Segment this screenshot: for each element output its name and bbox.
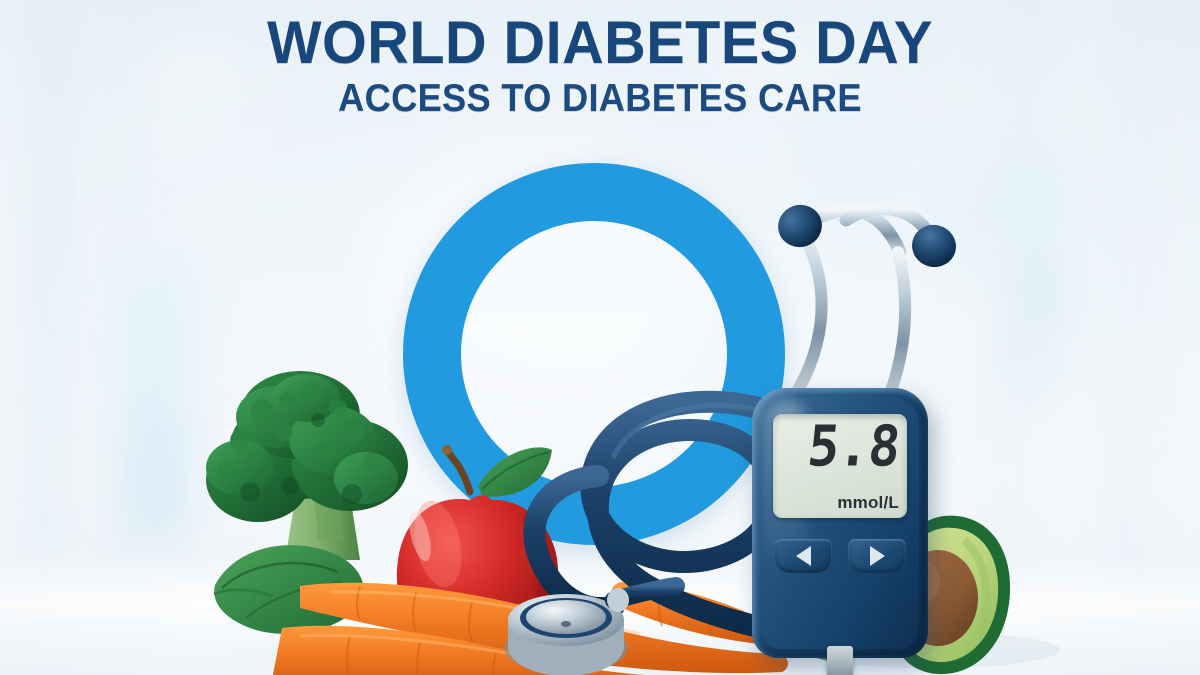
glucose-reading-unit: mmol/L	[837, 493, 899, 513]
page-title: WORLD DIABETES DAY	[24, 12, 1176, 73]
glucose-meter-display: 5.8 mmol/L	[773, 414, 907, 518]
glucose-reading-value: 5.8	[773, 419, 902, 475]
chevron-right-icon	[870, 546, 885, 566]
broccoli-illustration	[206, 371, 408, 560]
glucose-meter-body: 5.8 mmol/L	[752, 388, 928, 658]
stethoscope-earpiece-right	[908, 220, 961, 271]
stethoscope-earpiece-left	[773, 199, 828, 253]
glucose-meter[interactable]: 5.8 mmol/L	[752, 388, 928, 658]
glucose-meter-button-row	[774, 536, 906, 576]
page-subtitle: ACCESS TO DIABETES CARE	[42, 79, 1158, 120]
test-strip[interactable]	[827, 646, 853, 675]
left-arrow-button[interactable]	[774, 539, 832, 573]
heading-block: WORLD DIABETES DAY ACCESS TO DIABETES CA…	[0, 12, 1200, 120]
chevron-left-icon	[796, 546, 811, 566]
world-diabetes-day-poster: WORLD DIABETES DAY ACCESS TO DIABETES CA…	[0, 0, 1200, 675]
right-arrow-button[interactable]	[848, 539, 906, 573]
